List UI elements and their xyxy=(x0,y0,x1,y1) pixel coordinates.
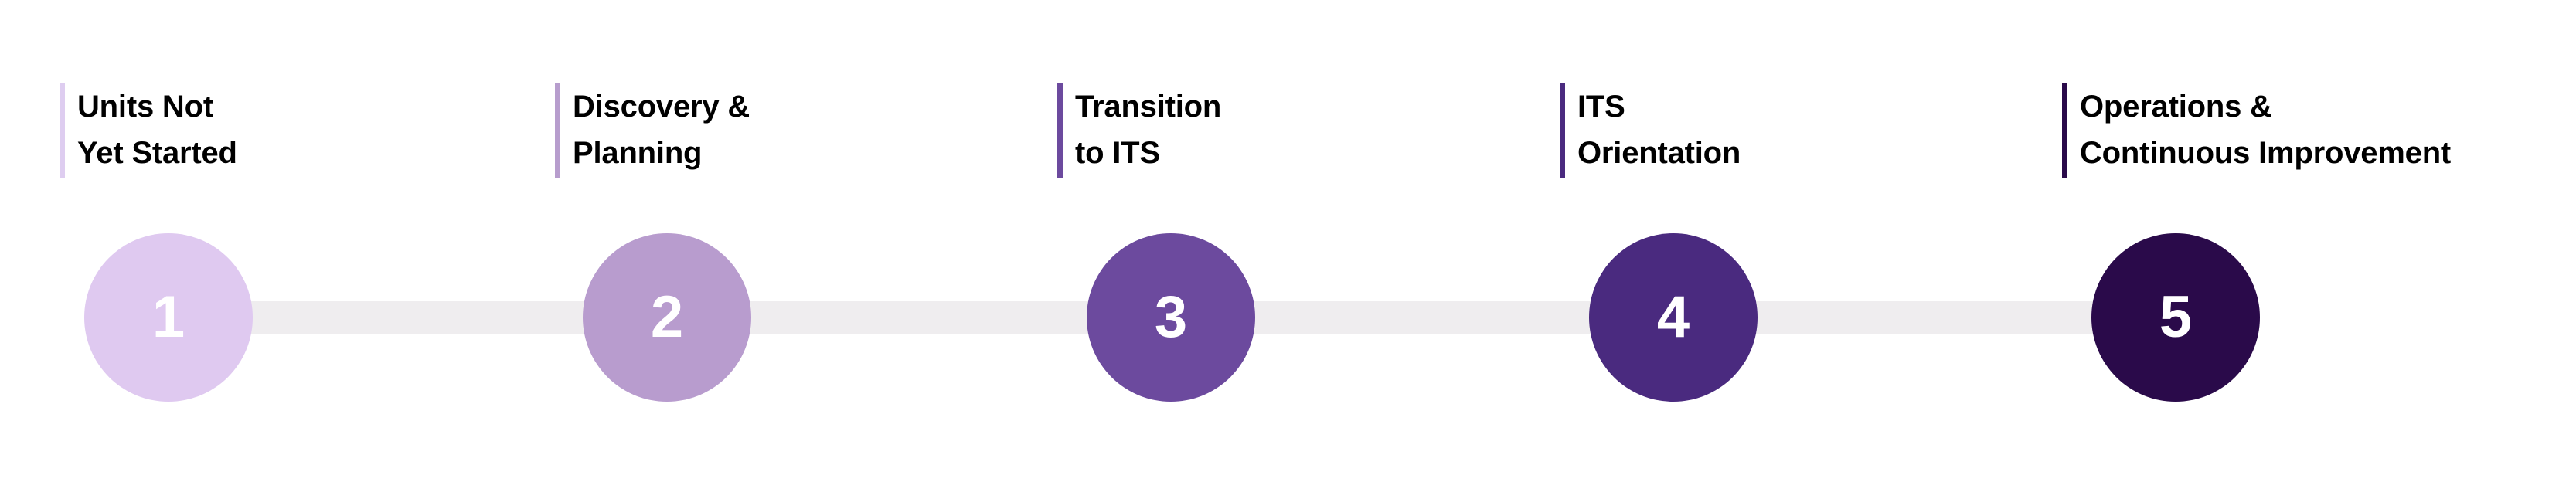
step-track-row: 1 2 3 4 5 xyxy=(0,0,2576,499)
step-circle-1[interactable]: 1 xyxy=(84,233,253,402)
step-number-2: 2 xyxy=(651,288,683,347)
step-number-4: 4 xyxy=(1657,288,1690,347)
step-circle-3[interactable]: 3 xyxy=(1087,233,1255,402)
step-number-5: 5 xyxy=(2159,288,2192,347)
step-circle-4[interactable]: 4 xyxy=(1589,233,1758,402)
step-circle-2[interactable]: 2 xyxy=(583,233,751,402)
step-number-1: 1 xyxy=(152,288,185,347)
step-number-3: 3 xyxy=(1155,288,1187,347)
process-stepper: Units Not Yet Started Discovery & Planni… xyxy=(0,0,2576,499)
step-circle-5[interactable]: 5 xyxy=(2091,233,2260,402)
